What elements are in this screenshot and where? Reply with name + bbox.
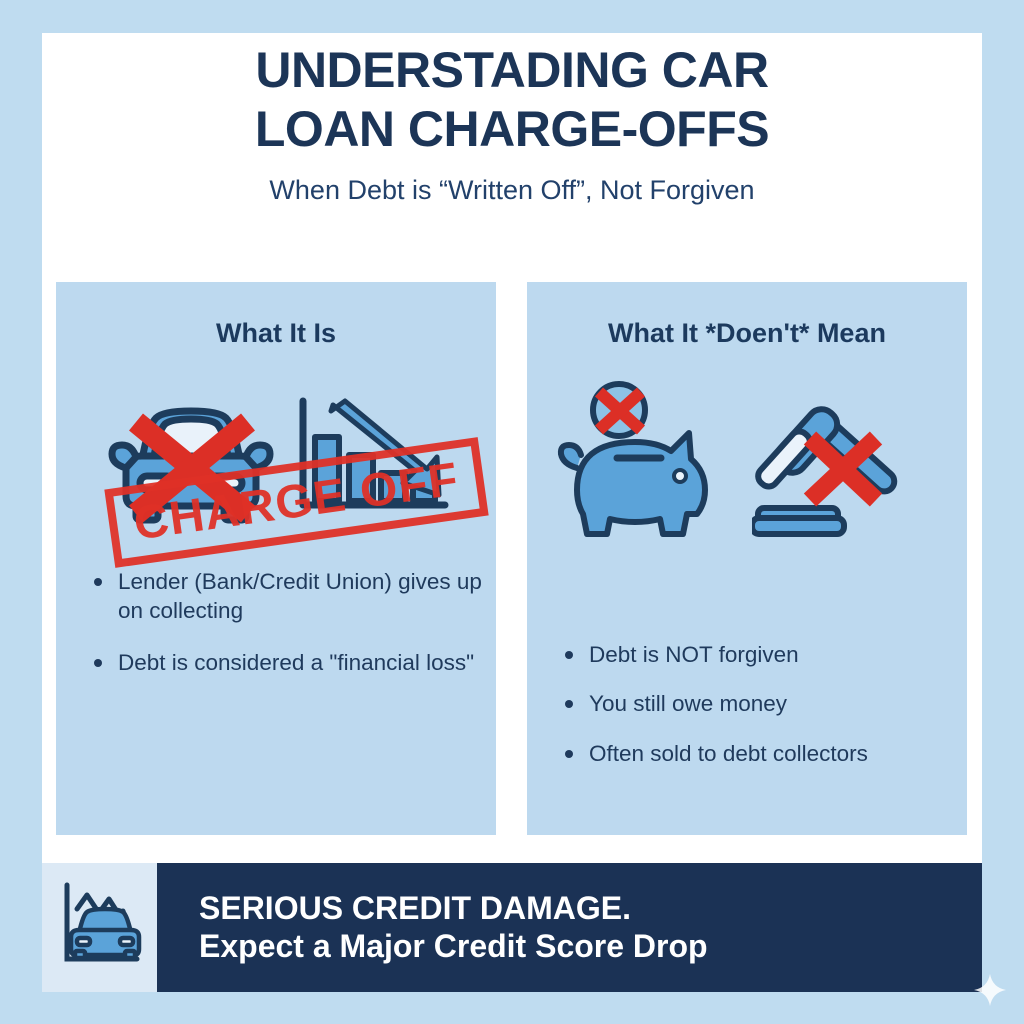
banner-body: SERIOUS CREDIT DAMAGE. Expect a Major Cr… [157,863,982,992]
header: UNDERSTADING CAR LOAN CHARGE-OFFS When D… [42,33,982,268]
gavel-crossed-out-icon [752,380,937,550]
piggy-bank-crossed-coin-icon [557,380,742,550]
panels-container: What It Is [42,282,982,835]
infographic-canvas: UNDERSTADING CAR LOAN CHARGE-OFFS When D… [0,0,1024,1024]
infographic-card: UNDERSTADING CAR LOAN CHARGE-OFFS When D… [42,33,982,863]
car-credit-decline-icon [57,879,143,976]
panel-right-heading: What It *Doen't* Mean [527,282,967,349]
list-item: Lender (Bank/Credit Union) gives up on c… [82,567,482,626]
panel-what-it-doesnt-mean: What It *Doen't* Mean [527,282,967,835]
panel-what-it-is: What It Is [56,282,496,835]
title-line-1: UNDERSTADING CAR [255,42,768,98]
banner-headline: SERIOUS CREDIT DAMAGE. [199,890,982,928]
panel-right-bullets: Debt is NOT forgiven You still owe money… [553,640,953,788]
page-subtitle: When Debt is “Written Off”, Not Forgiven [42,159,982,206]
page-title: UNDERSTADING CAR LOAN CHARGE-OFFS [42,33,982,159]
title-line-2: LOAN CHARGE-OFFS [255,101,769,157]
banner-icon-box [42,863,157,992]
bottom-banner: SERIOUS CREDIT DAMAGE. Expect a Major Cr… [42,863,982,992]
list-item: You still owe money [553,689,953,718]
list-item: Often sold to debt collectors [553,739,953,768]
panel-left-heading: What It Is [56,282,496,349]
list-item: Debt is NOT forgiven [553,640,953,669]
panel-right-icon-row [527,370,967,560]
banner-subline: Expect a Major Credit Score Drop [199,928,982,966]
panel-left-bullets: Lender (Bank/Credit Union) gives up on c… [82,567,482,699]
sparkle-icon [974,974,1006,1006]
list-item: Debt is considered a "financial loss" [82,648,482,677]
